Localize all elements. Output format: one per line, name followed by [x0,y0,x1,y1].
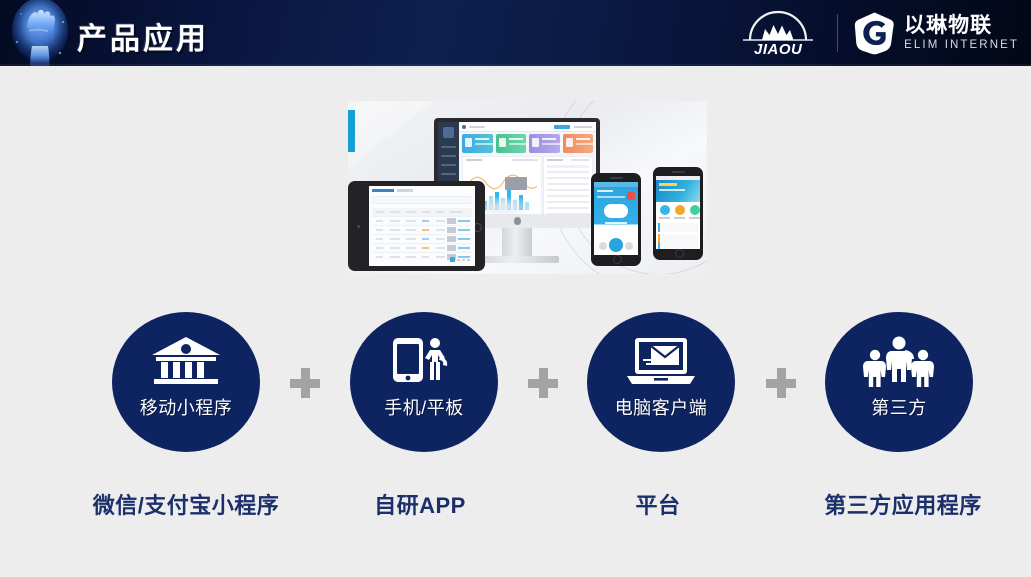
caption-self-developed-app: 自研APP [310,488,530,520]
monitor-base [475,256,559,263]
three-people-icon [859,334,939,390]
dashboard-topbar [459,122,596,132]
multi-device-dashboard-photo [348,101,707,274]
bank-building-icon [148,334,224,390]
dashboard-logo [443,127,454,138]
page-header: 产品应用 JIAOU 以琳物联 ELIM INTERNET [0,0,1031,66]
chart-tooltip [505,177,527,190]
channel-label: 移动小程序 [140,394,233,420]
elim-logo-words: 以琳物联 ELIM INTERNET [904,15,1019,52]
channel-item-third-party[interactable]: 第三方 [825,312,973,452]
page-title: 产品应用 [77,14,209,58]
sunrise-crown-icon [735,7,821,45]
hero-accent-bar [348,110,355,152]
channel-oval[interactable]: 第三方 [825,312,973,452]
raised-fist-icon [8,0,72,66]
channel-item-pc-client[interactable]: 电脑客户端 [587,312,735,452]
plus-separator-3 [766,368,796,398]
jiaou-logo-text: JIAOU [735,41,821,58]
phone-home-button [613,255,622,264]
phone-right [653,167,703,260]
plus-separator-2 [528,368,558,398]
apple-logo-icon [514,217,521,225]
channel-label: 手机/平板 [384,394,464,420]
dashboard-stat-cards [462,134,593,153]
caption-row: 微信/支付宝小程序 自研APP 平台 第三方应用程序 [0,488,1031,528]
caption-third-party-app: 第三方应用程序 [793,488,1013,520]
channel-oval[interactable]: 移动小程序 [112,312,260,452]
stat-card [529,134,560,153]
phone-speaker [672,171,685,173]
header-bottom-rule [0,64,1031,66]
dashboard-table-panel [543,156,593,220]
channel-circle-row: 移动小程序 手机/平板 [0,312,1031,452]
channel-label: 电脑客户端 [615,394,708,420]
channel-label: 第三方 [871,394,927,420]
plus-separator-1 [290,368,320,398]
stat-card [563,134,594,153]
stat-card [462,134,493,153]
g-hexagon-icon [854,11,895,55]
channel-item-phone-tablet[interactable]: 手机/平板 [350,312,498,452]
phone-right-screen [656,176,700,249]
monitor-stand [502,228,532,258]
tablet-screen [369,186,475,266]
caption-platform: 平台 [548,488,768,520]
phone-speaker [610,177,623,179]
tablet-device [348,181,485,271]
logo-group: JIAOU 以琳物联 ELIM INTERNET [735,0,1019,66]
jiaou-logo: JIAOU [735,7,821,59]
stat-card [496,134,527,153]
channel-oval[interactable]: 手机/平板 [350,312,498,452]
laptop-mail-icon [623,334,699,390]
logo-divider [837,14,838,52]
channel-item-mini-program[interactable]: 移动小程序 [112,312,260,452]
phone-home-button [675,249,684,258]
channel-oval[interactable]: 电脑客户端 [587,312,735,452]
phone-person-icon [389,334,459,390]
tablet-camera [357,225,360,228]
elim-logo-cn: 以琳物联 [904,15,1019,36]
elim-logo-en: ELIM INTERNET [904,40,1019,52]
caption-mini-program: 微信/支付宝小程序 [76,488,296,520]
phone-left-screen [594,182,638,255]
elim-logo: 以琳物联 ELIM INTERNET [854,11,1019,55]
phone-left [591,173,641,266]
